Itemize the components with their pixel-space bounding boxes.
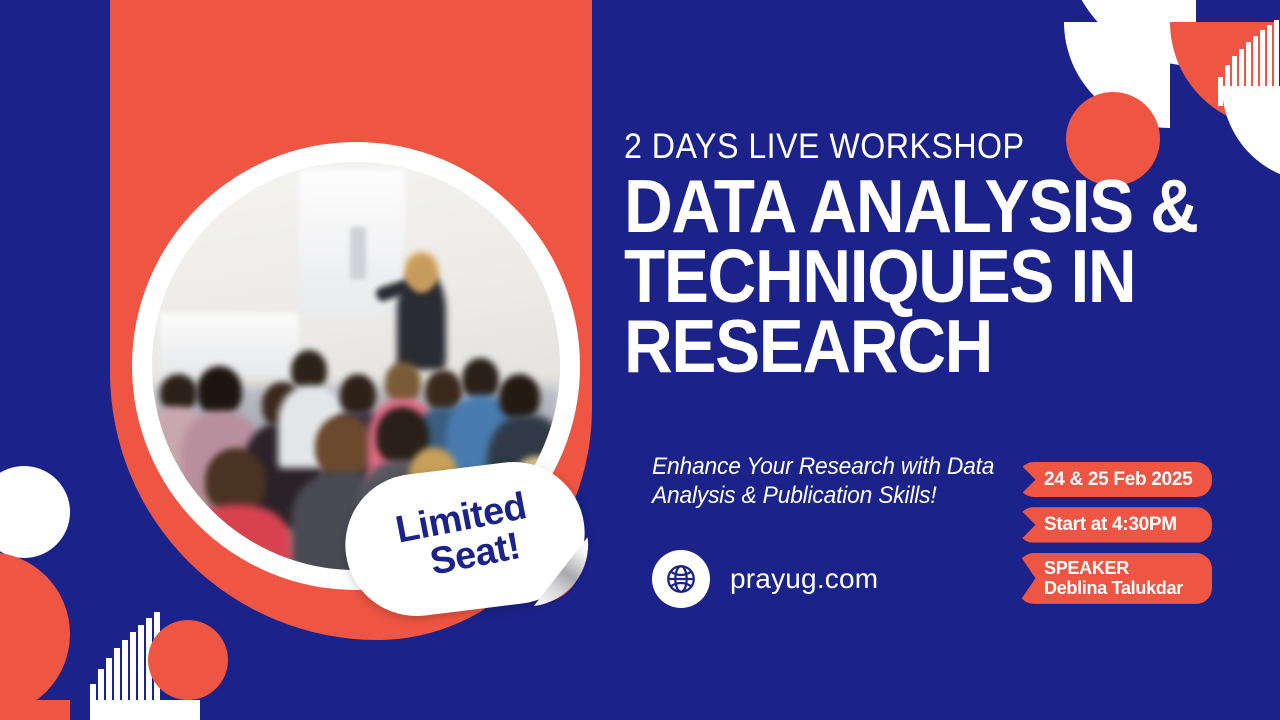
poster-canvas: Limited Seat! 2 DAYS LIVE WORKSHOP DATA …: [0, 0, 1280, 720]
website-row[interactable]: prayug.com: [652, 550, 878, 608]
bar-white-icon: [90, 700, 200, 720]
speaker-badge-label: SPEAKER: [1044, 558, 1202, 578]
info-badges: 24 & 25 Feb 2025 Start at 4:30PM SPEAKER…: [1018, 462, 1212, 604]
limited-seat-sticker: Limited Seat!: [337, 454, 593, 624]
speaker-badge-name: Deblina Talukdar: [1044, 578, 1202, 598]
kicker-text: 2 DAYS LIVE WORKSHOP: [624, 127, 1024, 167]
headline-line-2: TECHNIQUES IN: [624, 242, 1198, 312]
circle-orange-icon: [148, 620, 228, 700]
bar-orange-icon: [0, 700, 70, 720]
date-badge-text: 24 & 25 Feb 2025: [1044, 469, 1192, 490]
headline-line-3: RESEARCH: [624, 312, 1198, 382]
date-badge: 24 & 25 Feb 2025: [1018, 462, 1212, 497]
half-oval-orange-icon: [0, 552, 70, 716]
speaker-badge: SPEAKER Deblina Talukdar: [1018, 553, 1212, 604]
time-badge-text: Start at 4:30PM: [1044, 514, 1177, 535]
circle-white-icon: [0, 466, 70, 558]
page-title: DATA ANALYSIS & TECHNIQUES IN RESEARCH: [624, 172, 1198, 381]
headline-line-1: DATA ANALYSIS &: [624, 172, 1198, 242]
time-badge: Start at 4:30PM: [1018, 507, 1212, 542]
globe-icon: [652, 550, 710, 608]
website-url[interactable]: prayug.com: [730, 563, 878, 595]
striped-arc-icon: [1218, 20, 1280, 106]
tagline-text: Enhance Your Research with Data Analysis…: [652, 452, 1032, 511]
